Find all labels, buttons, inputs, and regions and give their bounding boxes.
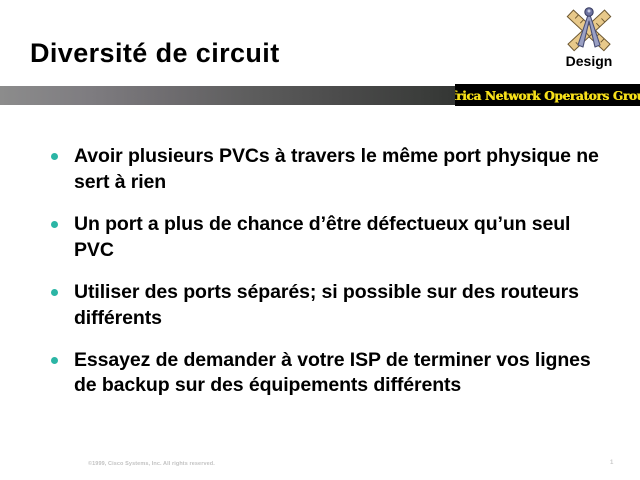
bullet-text: Utiliser des ports séparés; si possible …	[74, 281, 579, 329]
compass-rulers-icon	[558, 3, 620, 53]
anog-badge-label: Africa Network Operators Group	[455, 88, 640, 103]
bullet-dot-icon	[51, 289, 58, 296]
bullet-dot-icon	[51, 221, 58, 228]
anog-badge: Africa Network Operators Group	[455, 84, 640, 106]
list-item: Utiliser des ports séparés; si possible …	[50, 280, 610, 332]
bullet-list: Avoir plusieurs PVCs à travers le même p…	[50, 144, 610, 415]
slide-canvas: Diversité de circuit	[0, 0, 640, 480]
bullet-text: Essayez de demander à votre ISP de termi…	[74, 349, 591, 397]
list-item: Un port a plus de chance d’être défectue…	[50, 212, 610, 264]
page-title: Diversité de circuit	[30, 38, 280, 69]
bullet-dot-icon	[51, 153, 58, 160]
design-logo-label: Design	[558, 53, 620, 69]
bullet-text: Avoir plusieurs PVCs à travers le même p…	[74, 145, 599, 193]
list-item: Avoir plusieurs PVCs à travers le même p…	[50, 144, 610, 196]
footer-copyright: ©1999, Cisco Systems, Inc. All rights re…	[88, 461, 215, 467]
bullet-dot-icon	[51, 357, 58, 364]
list-item: Essayez de demander à votre ISP de termi…	[50, 348, 610, 400]
bullet-text: Un port a plus de chance d’être défectue…	[74, 213, 570, 261]
footer-page-number: 1	[610, 460, 613, 466]
